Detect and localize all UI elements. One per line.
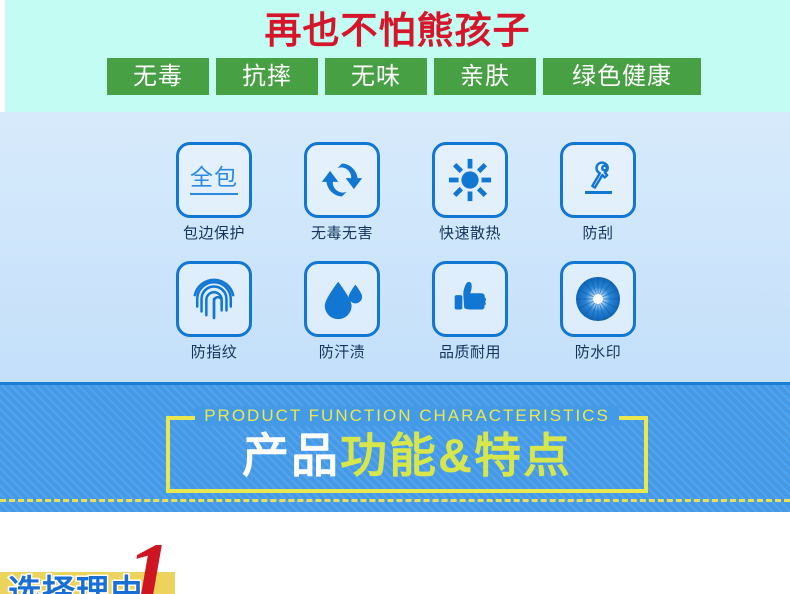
fingerprint-icon [191, 276, 237, 322]
reason-section: 选择理由 1 [0, 512, 790, 594]
feature-caption: 防指纹 [150, 344, 278, 362]
feature-tag-2[interactable]: 无味 [325, 58, 427, 95]
header-section: 再也不怕熊孩子 无毒 抗摔 无味 亲肤 绿色健康 [5, 0, 790, 112]
banner-title-yellow: 功能&特点 [340, 429, 572, 482]
feature-tag-3[interactable]: 亲肤 [434, 58, 536, 95]
icon-frame [304, 261, 380, 337]
feature-icon-grid: 全包 包边保护 无毒无害 [150, 142, 660, 380]
feature-caption: 防水印 [534, 344, 662, 362]
product-detail-page: 再也不怕熊孩子 无毒 抗摔 无味 亲肤 绿色健康 全包 包边保护 [0, 0, 790, 594]
feature-caption: 品质耐用 [406, 344, 534, 362]
feature-caption: 快速散热 [406, 225, 534, 243]
feature-caption: 防刮 [534, 225, 662, 243]
feature-icon-row-2: 防指纹 防汗渍 [150, 261, 660, 380]
feature-item-waterstain[interactable]: 防水印 [534, 261, 662, 362]
feature-icons-section: 全包 包边保护 无毒无害 [0, 112, 790, 385]
feature-caption: 包边保护 [150, 225, 278, 243]
icon-frame [304, 142, 380, 218]
feature-item-fingerprint[interactable]: 防指纹 [150, 261, 278, 362]
icon-frame [432, 142, 508, 218]
feature-item-nontoxic[interactable]: 无毒无害 [278, 142, 406, 243]
icon-frame [560, 142, 636, 218]
icon-frame [176, 261, 252, 337]
feature-icon-row-1: 全包 包边保护 无毒无害 [150, 142, 660, 261]
banner-english-row: PRODUCT FUNCTION CHARACTERISTICS [166, 402, 648, 430]
section-banner: PRODUCT FUNCTION CHARACTERISTICS 产品功能&特点 [0, 385, 790, 512]
reason-number: 1 [126, 529, 172, 594]
feature-tag-row: 无毒 抗摔 无味 亲肤 绿色健康 [107, 58, 701, 95]
icon-frame: 全包 [176, 142, 252, 218]
key-scratch-icon [574, 156, 622, 204]
feature-caption: 防汗渍 [278, 344, 406, 362]
feature-item-scratch[interactable]: 防刮 [534, 142, 662, 243]
feature-item-sweat[interactable]: 防汗渍 [278, 261, 406, 362]
banner-title-white: 产品 [242, 429, 340, 482]
feature-item-heat[interactable]: 快速散热 [406, 142, 534, 243]
feature-tag-0[interactable]: 无毒 [107, 58, 209, 95]
feature-tag-4[interactable]: 绿色健康 [543, 58, 701, 95]
sun-heat-icon [447, 157, 493, 203]
page-title: 再也不怕熊孩子 [5, 9, 790, 53]
radial-burst-icon [574, 275, 622, 323]
water-drop-icon [319, 276, 365, 322]
full-wrap-icon: 全包 [190, 166, 238, 195]
feature-item-full-wrap[interactable]: 全包 包边保护 [150, 142, 278, 243]
reason-label: 选择理由 [8, 574, 144, 594]
feature-item-durable[interactable]: 品质耐用 [406, 261, 534, 362]
banner-dashed-divider [0, 499, 790, 502]
feature-caption: 无毒无害 [278, 225, 406, 243]
recycle-arrows-icon [320, 158, 364, 202]
icon-frame [560, 261, 636, 337]
banner-english-text: PRODUCT FUNCTION CHARACTERISTICS [195, 406, 619, 426]
banner-title: 产品功能&特点 [166, 427, 648, 485]
thumbs-up-icon [447, 276, 493, 322]
feature-tag-1[interactable]: 抗摔 [216, 58, 318, 95]
icon-frame [432, 261, 508, 337]
